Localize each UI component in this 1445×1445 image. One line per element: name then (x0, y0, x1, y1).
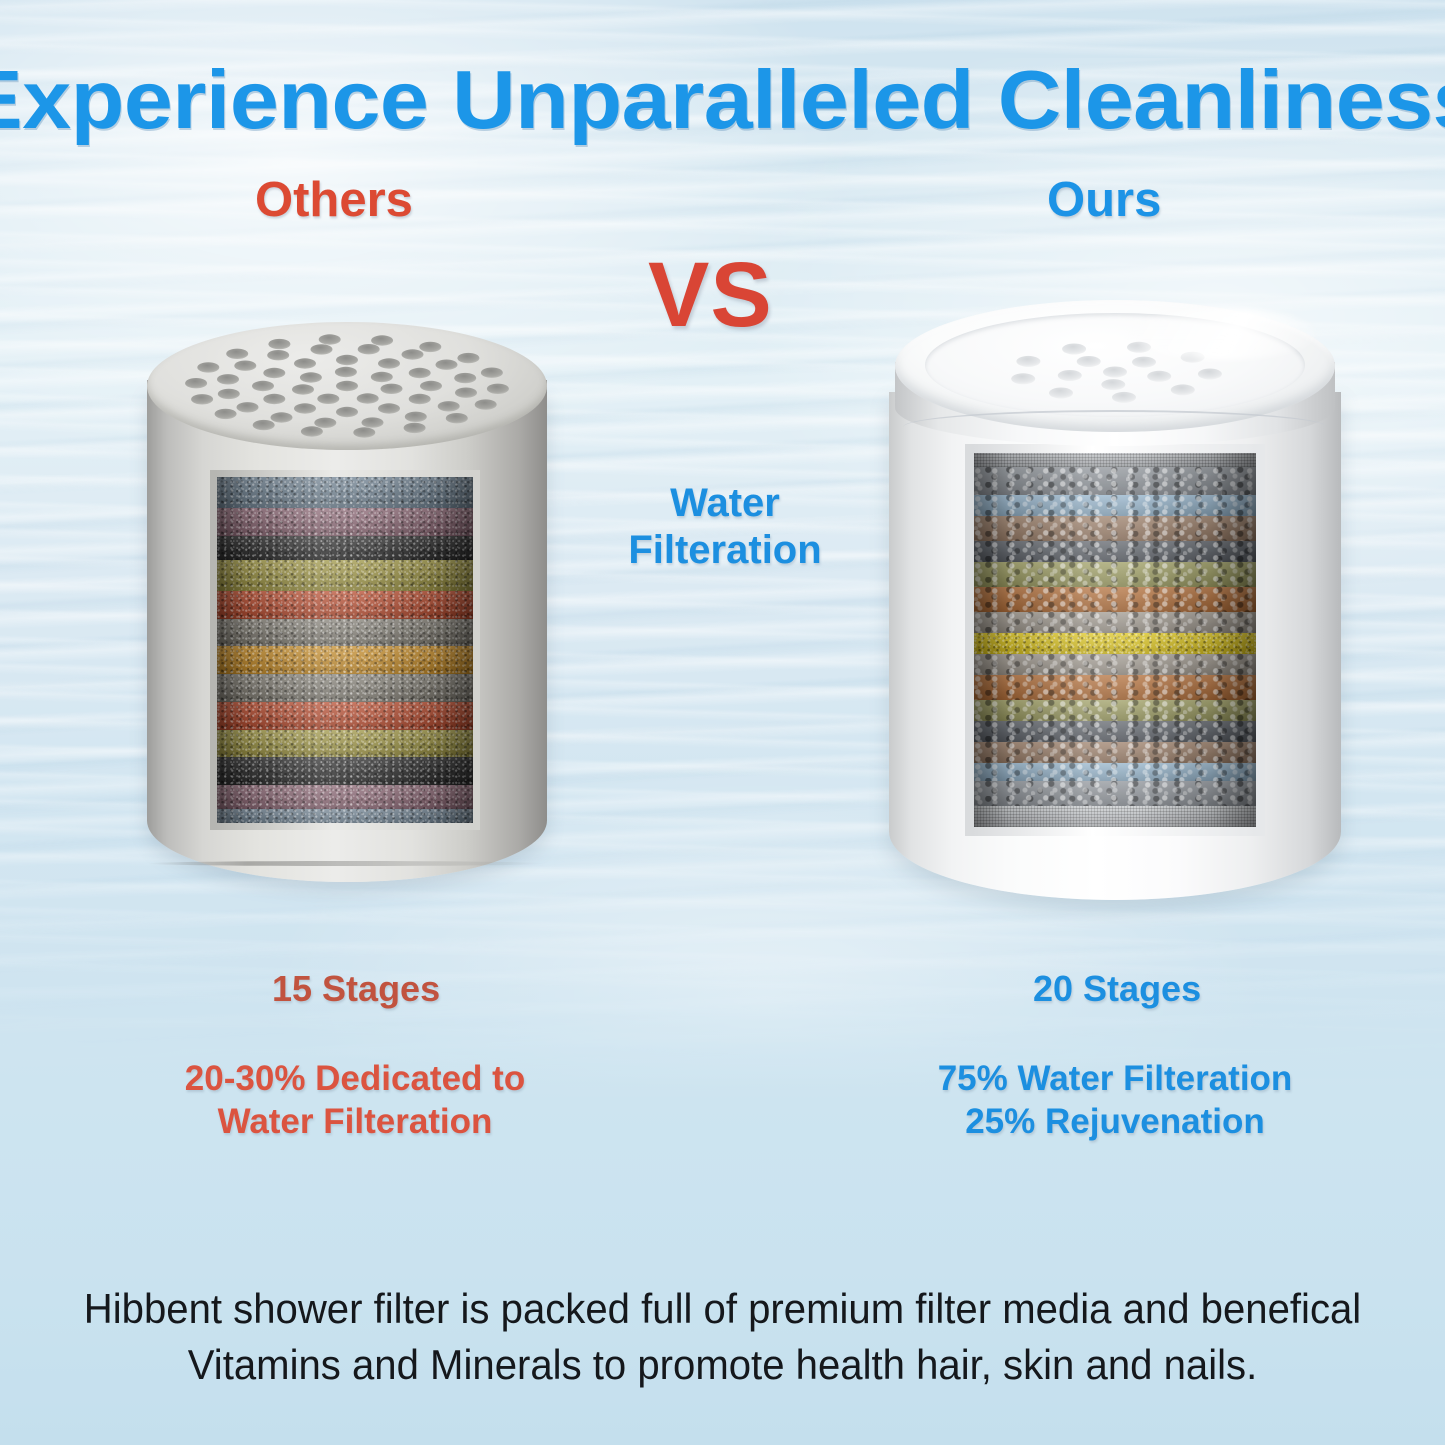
media-layer (974, 587, 1256, 612)
media-layer (217, 785, 473, 809)
media-layer (217, 757, 473, 785)
page-title: Experience Unparalleled Cleanliness (0, 52, 1445, 148)
media-layer (974, 612, 1256, 633)
center-caption-line2: Filteration (575, 527, 875, 574)
others-media-window (210, 470, 480, 830)
media-layer (974, 763, 1256, 781)
media-layer (217, 809, 473, 823)
media-layer (974, 806, 1256, 827)
media-layer (217, 536, 473, 560)
media-layer (217, 508, 473, 536)
media-layer (974, 654, 1256, 675)
footer-description: Hibbent shower filter is packed full of … (80, 1281, 1364, 1393)
media-layer (217, 619, 473, 647)
ours-media-layer-stack (974, 453, 1256, 827)
media-layer (974, 541, 1256, 562)
spec-ours-line1: 75% Water Filteration (920, 1058, 1310, 1101)
spec-others-line2: Water Filteration (160, 1101, 550, 1144)
spec-ours-line2: 25% Rejuvenation (920, 1101, 1310, 1144)
ours-cap-gloss-highlight (1127, 308, 1317, 360)
center-caption-line1: Water (575, 480, 875, 527)
perforated-cap-icon (147, 322, 547, 450)
others-base-ring (148, 861, 546, 866)
media-layer (974, 675, 1256, 700)
spec-others: 20-30% Dedicated to Water Filteration (160, 1058, 550, 1143)
media-layer (974, 516, 1256, 541)
media-layer (217, 477, 473, 508)
center-caption: Water Filteration (575, 480, 875, 574)
media-layer (217, 702, 473, 730)
stages-count-others: 15 Stages (272, 968, 440, 1010)
spec-ours: 75% Water Filteration 25% Rejuvenation (920, 1058, 1310, 1143)
media-layer (217, 646, 473, 674)
column-label-ours: Ours (1047, 172, 1161, 228)
media-layer (974, 700, 1256, 721)
media-layer (974, 781, 1256, 806)
ours-cap-seam-line (903, 410, 1327, 444)
stages-count-ours: 20 Stages (1033, 968, 1201, 1010)
versus-label: VS (648, 243, 773, 348)
footer-line2: Vitamins and Minerals to promote health … (80, 1337, 1364, 1393)
column-label-others: Others (255, 172, 413, 228)
media-layer (974, 495, 1256, 516)
media-layer (974, 633, 1256, 654)
ours-perforated-cap (895, 300, 1335, 472)
footer-line1: Hibbent shower filter is packed full of … (80, 1281, 1364, 1337)
others-perforated-cap (147, 322, 547, 474)
media-layer (217, 674, 473, 702)
media-layer (974, 721, 1256, 742)
others-media-layer-stack (217, 477, 473, 823)
media-layer (974, 562, 1256, 587)
media-layer (974, 742, 1256, 763)
media-layer (217, 730, 473, 758)
media-layer (217, 560, 473, 591)
spec-others-line1: 20-30% Dedicated to (160, 1058, 550, 1101)
others-cap-top (147, 322, 547, 450)
infographic-content: Experience Unparalleled Cleanliness Othe… (0, 0, 1445, 1445)
filter-cartridge-ours (889, 300, 1341, 900)
media-layer (217, 591, 473, 619)
ours-media-window (965, 444, 1265, 836)
filter-cartridge-others (147, 322, 547, 882)
